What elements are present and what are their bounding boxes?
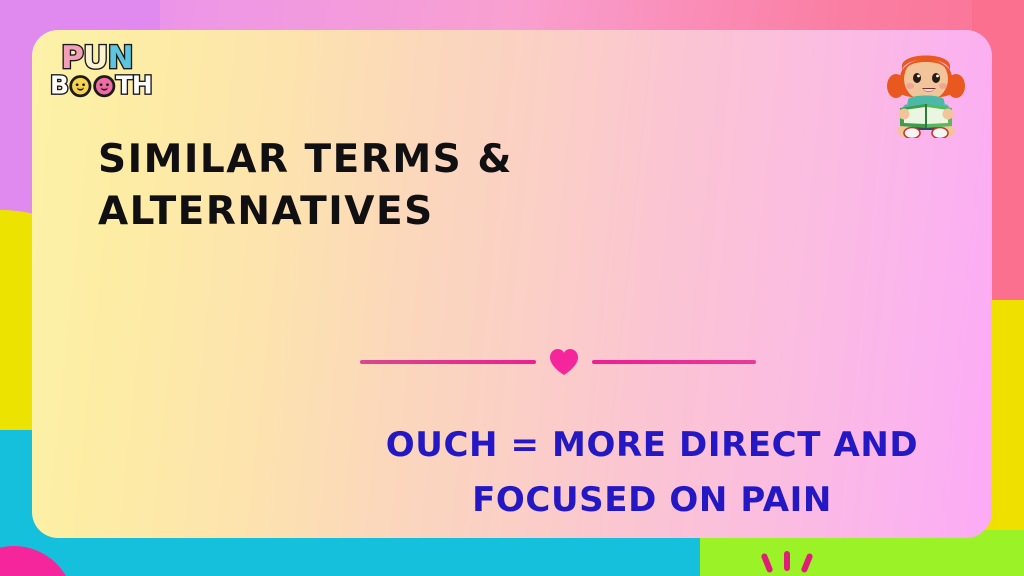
logo-letter-n: N (108, 42, 133, 73)
emphasis-text: OUCH = MORE DIRECT AND FOCUSED ON PAIN (332, 418, 972, 529)
smiley-face-icon-yellow (69, 75, 91, 97)
girl-reading-book-icon (878, 34, 974, 138)
brand-logo-line-booth: B T H (50, 73, 152, 98)
brand-logo-line-pun: P U N (50, 42, 152, 73)
brand-logo: P U N B T H (50, 42, 152, 98)
divider-line-left (360, 360, 536, 364)
slide-canvas: P U N B T H (0, 0, 1024, 576)
page-title: SIMILAR TERMS & ALTERNATIVES (98, 134, 658, 239)
heart-divider (360, 346, 756, 378)
content-card: P U N B T H (32, 30, 992, 538)
decor-tick-marks (762, 550, 822, 576)
logo-letter-h: H (132, 73, 152, 98)
logo-letter-t: T (116, 73, 132, 98)
heart-icon (549, 348, 579, 376)
divider-line-right (592, 360, 756, 364)
logo-letter-u: U (83, 42, 107, 73)
smiley-face-icon-pink (93, 75, 115, 97)
logo-letter-p: P (61, 42, 83, 73)
logo-letter-b: B (50, 73, 68, 98)
